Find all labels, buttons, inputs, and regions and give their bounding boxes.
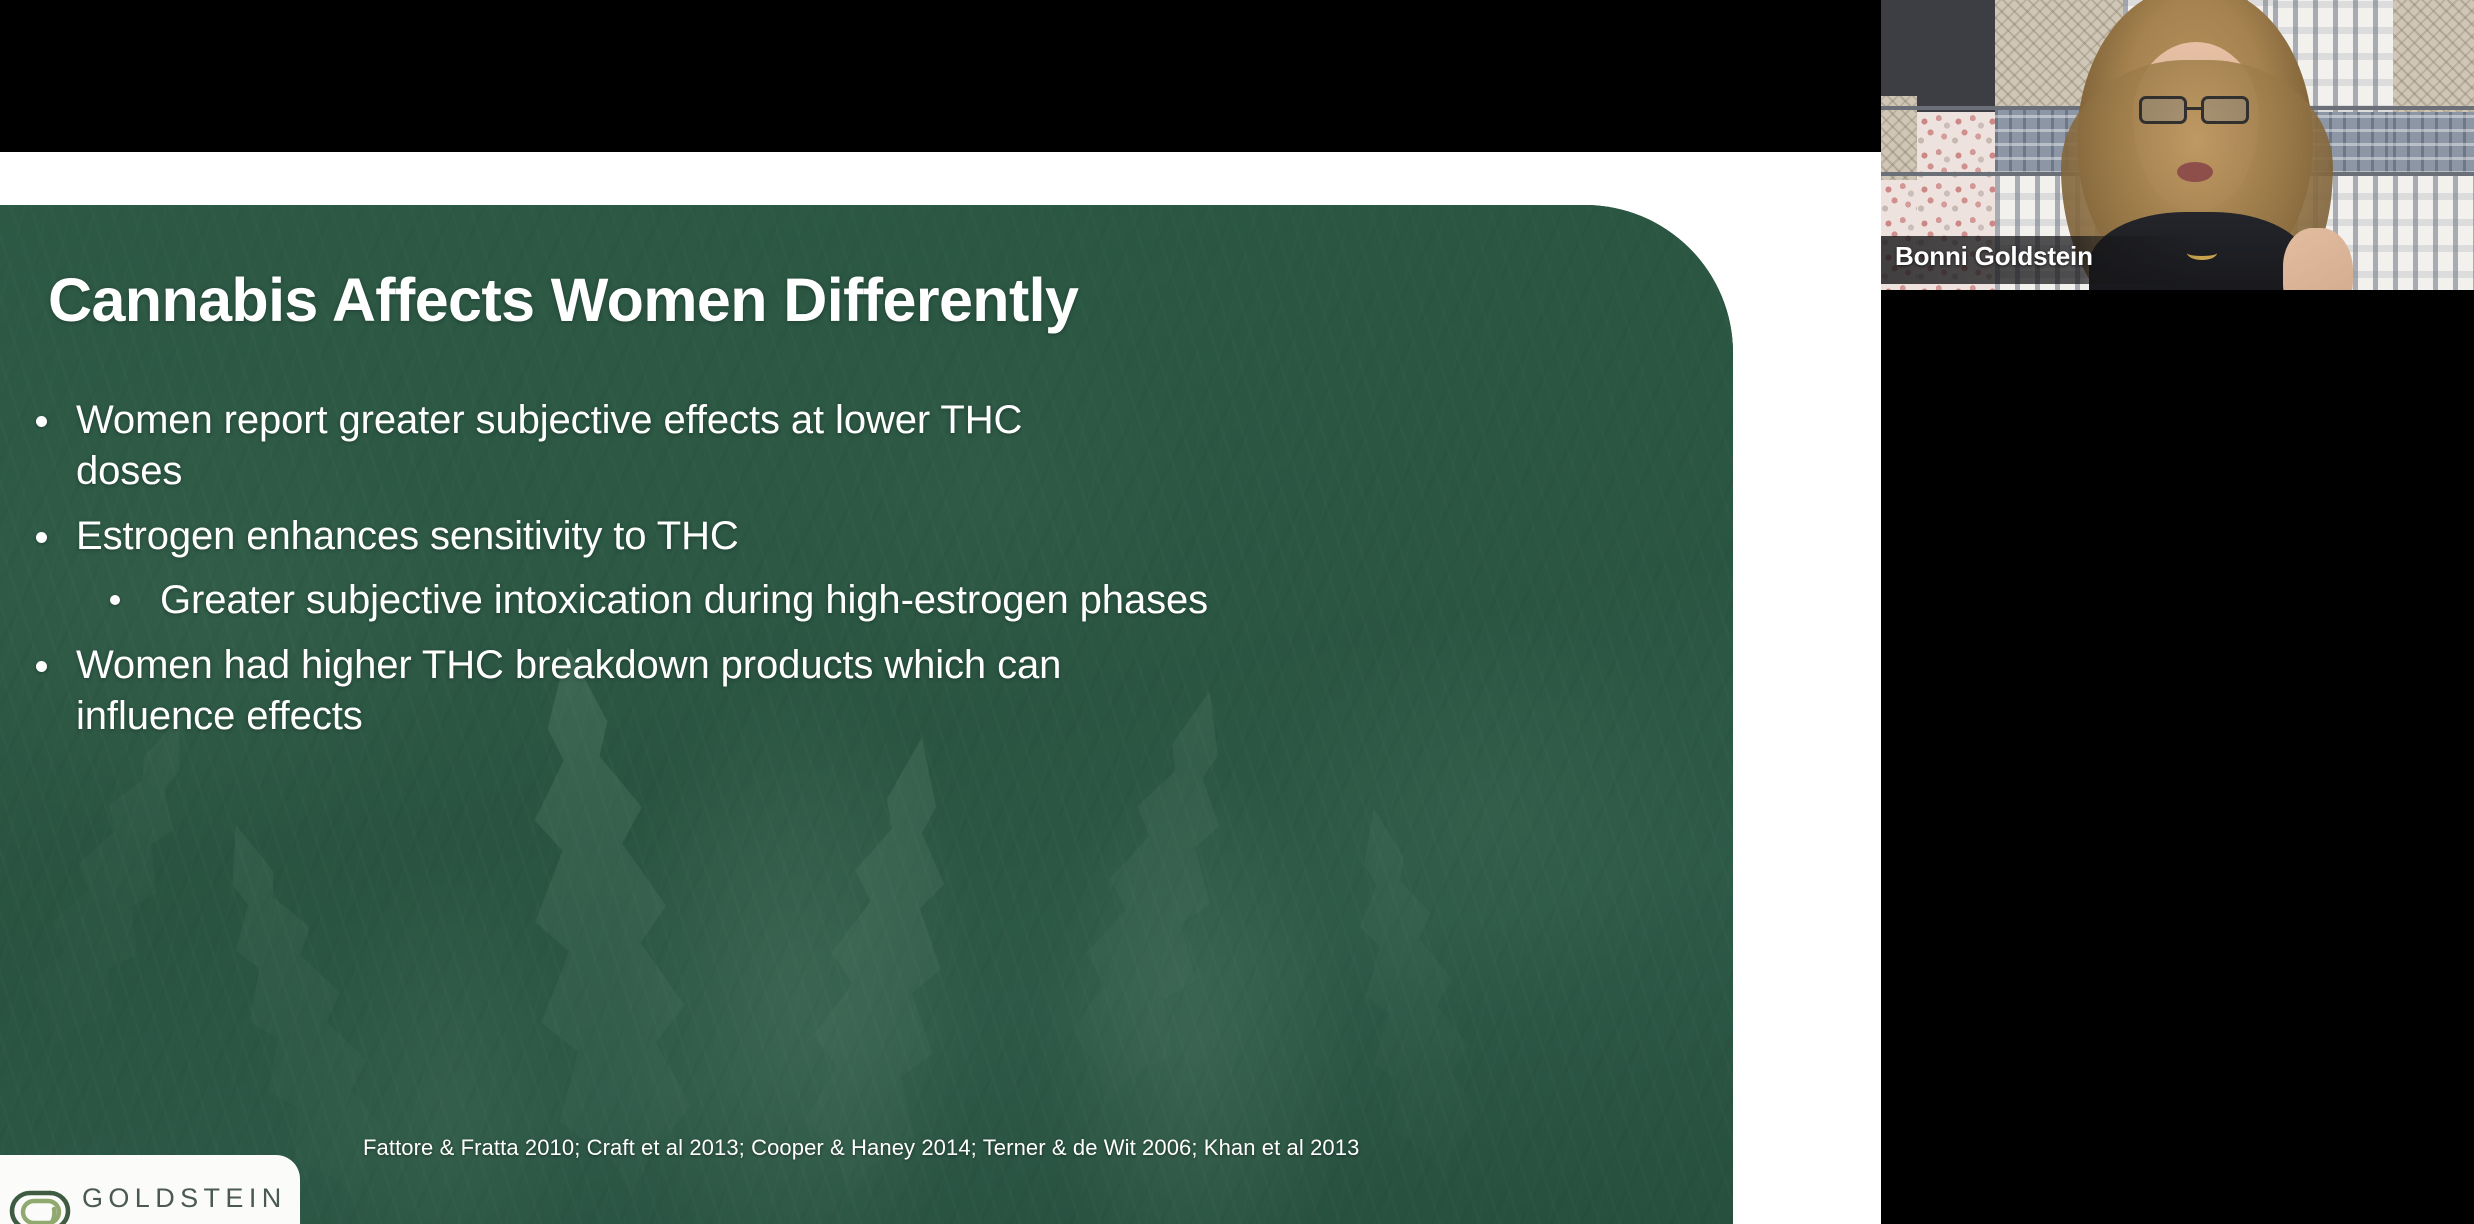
bullet-item: Estrogen enhances sensitivity to THC (0, 511, 1700, 562)
bullet-dot-icon (36, 661, 47, 672)
bullet-dot-icon (110, 595, 120, 605)
bullet-item: Women had higher THC breakdown products … (0, 640, 1700, 742)
shared-screen-pane[interactable]: Cannabis Affects Women Differently Women… (0, 0, 1881, 1224)
bullet-dot-icon (36, 416, 47, 427)
logo-word-goldstein: GOLDSTEIN (82, 1185, 290, 1212)
slide-bullet-list: Women report greater subjective effects … (0, 395, 1700, 756)
empty-tile-area (1881, 330, 2474, 1224)
sub-bullet-item: Greater subjective intoxication during h… (0, 575, 1700, 626)
bullet-item: Women report greater subjective effects … (0, 395, 1700, 497)
letterbox-bar-top (0, 0, 1881, 152)
video-tile-bottom-bar (1881, 290, 2474, 330)
slide-content: Cannabis Affects Women Differently Women… (0, 205, 1733, 1224)
logo-word-wellness: WELLNESS (82, 1221, 290, 1224)
meeting-stage: Cannabis Affects Women Differently Women… (0, 0, 2474, 1224)
goldstein-wellness-logo: GOLDSTEIN WELLNESS (0, 1155, 300, 1224)
bullet-dot-icon (36, 532, 47, 543)
bullet-text: Women report greater subjective effects … (76, 395, 1136, 497)
participant-video-tile[interactable]: Bonni Goldstein (1881, 0, 2474, 330)
citation-references: Fattore & Fratta 2010; Craft et al 2013;… (363, 1135, 1359, 1161)
goldstein-wellness-leaf-monogram-icon (4, 1179, 74, 1224)
sub-bullet-text: Greater subjective intoxication during h… (160, 575, 1208, 626)
participant-name-label: Bonni Goldstein (1895, 241, 2093, 272)
lens-right (2201, 96, 2249, 124)
logo-wordmark: GOLDSTEIN WELLNESS (82, 1185, 290, 1224)
bullet-text: Estrogen enhances sensitivity to THC (76, 511, 739, 562)
lens-left (2139, 96, 2187, 124)
slide-canvas: Cannabis Affects Women Differently Women… (0, 152, 1881, 1224)
slide-title: Cannabis Affects Women Differently (48, 268, 1548, 332)
eyeglasses-icon (2139, 96, 2255, 126)
bullet-text: Women had higher THC breakdown products … (76, 640, 1136, 742)
slide-card: Cannabis Affects Women Differently Women… (0, 205, 1733, 1224)
mouth (2177, 162, 2213, 182)
